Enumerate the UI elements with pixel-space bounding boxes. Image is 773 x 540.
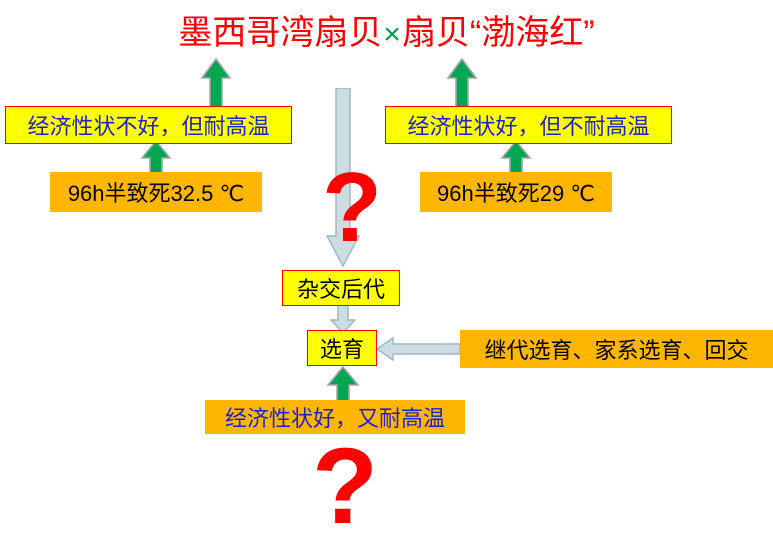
cross-symbol: ×	[382, 18, 402, 51]
box-breeding-label: 选育	[320, 332, 364, 364]
box-hybrid-offspring-label: 杂交后代	[297, 272, 385, 304]
box-left-parent-trait: 经济性状不好，但耐高温	[5, 106, 292, 144]
up-arrow-left-trait	[200, 58, 232, 110]
left-arrow-breeding-methods	[377, 336, 461, 362]
question-mark-bottom: ?	[312, 432, 378, 540]
box-right-ld50-label: 96h半致死29 ℃	[437, 176, 595, 208]
title-left-parent: 墨西哥湾扇贝	[178, 14, 382, 52]
question-mark-middle: ?	[322, 158, 382, 256]
box-left-ld50-label: 96h半致死32.5 ℃	[68, 176, 244, 208]
page-title: 墨西哥湾扇贝×扇贝“渤海红”	[0, 12, 773, 56]
box-right-ld50: 96h半致死29 ℃	[420, 172, 612, 212]
box-breeding-methods: 继代选育、家系选育、回交	[460, 330, 773, 368]
up-arrow-right-trait	[446, 58, 478, 110]
up-arrow-left-ld50	[140, 140, 172, 176]
box-left-ld50: 96h半致死32.5 ℃	[50, 172, 262, 212]
box-goal-trait: 经济性状好，又耐高温	[205, 400, 465, 434]
box-right-parent-trait-label: 经济性状好，但不耐高温	[407, 109, 649, 141]
box-left-parent-trait-label: 经济性状不好，但耐高温	[27, 109, 269, 141]
up-arrow-goal-trait	[326, 366, 360, 404]
up-arrow-right-ld50	[500, 140, 532, 176]
title-right-parent: 扇贝“渤海红”	[402, 14, 595, 52]
box-right-parent-trait: 经济性状好，但不耐高温	[385, 106, 672, 144]
box-goal-trait-label: 经济性状好，又耐高温	[225, 401, 445, 433]
box-breeding-methods-label: 继代选育、家系选育、回交	[484, 333, 748, 365]
box-hybrid-offspring: 杂交后代	[282, 270, 400, 306]
diagram-canvas: 墨西哥湾扇贝×扇贝“渤海红”	[0, 0, 773, 540]
box-breeding: 选育	[307, 330, 377, 366]
